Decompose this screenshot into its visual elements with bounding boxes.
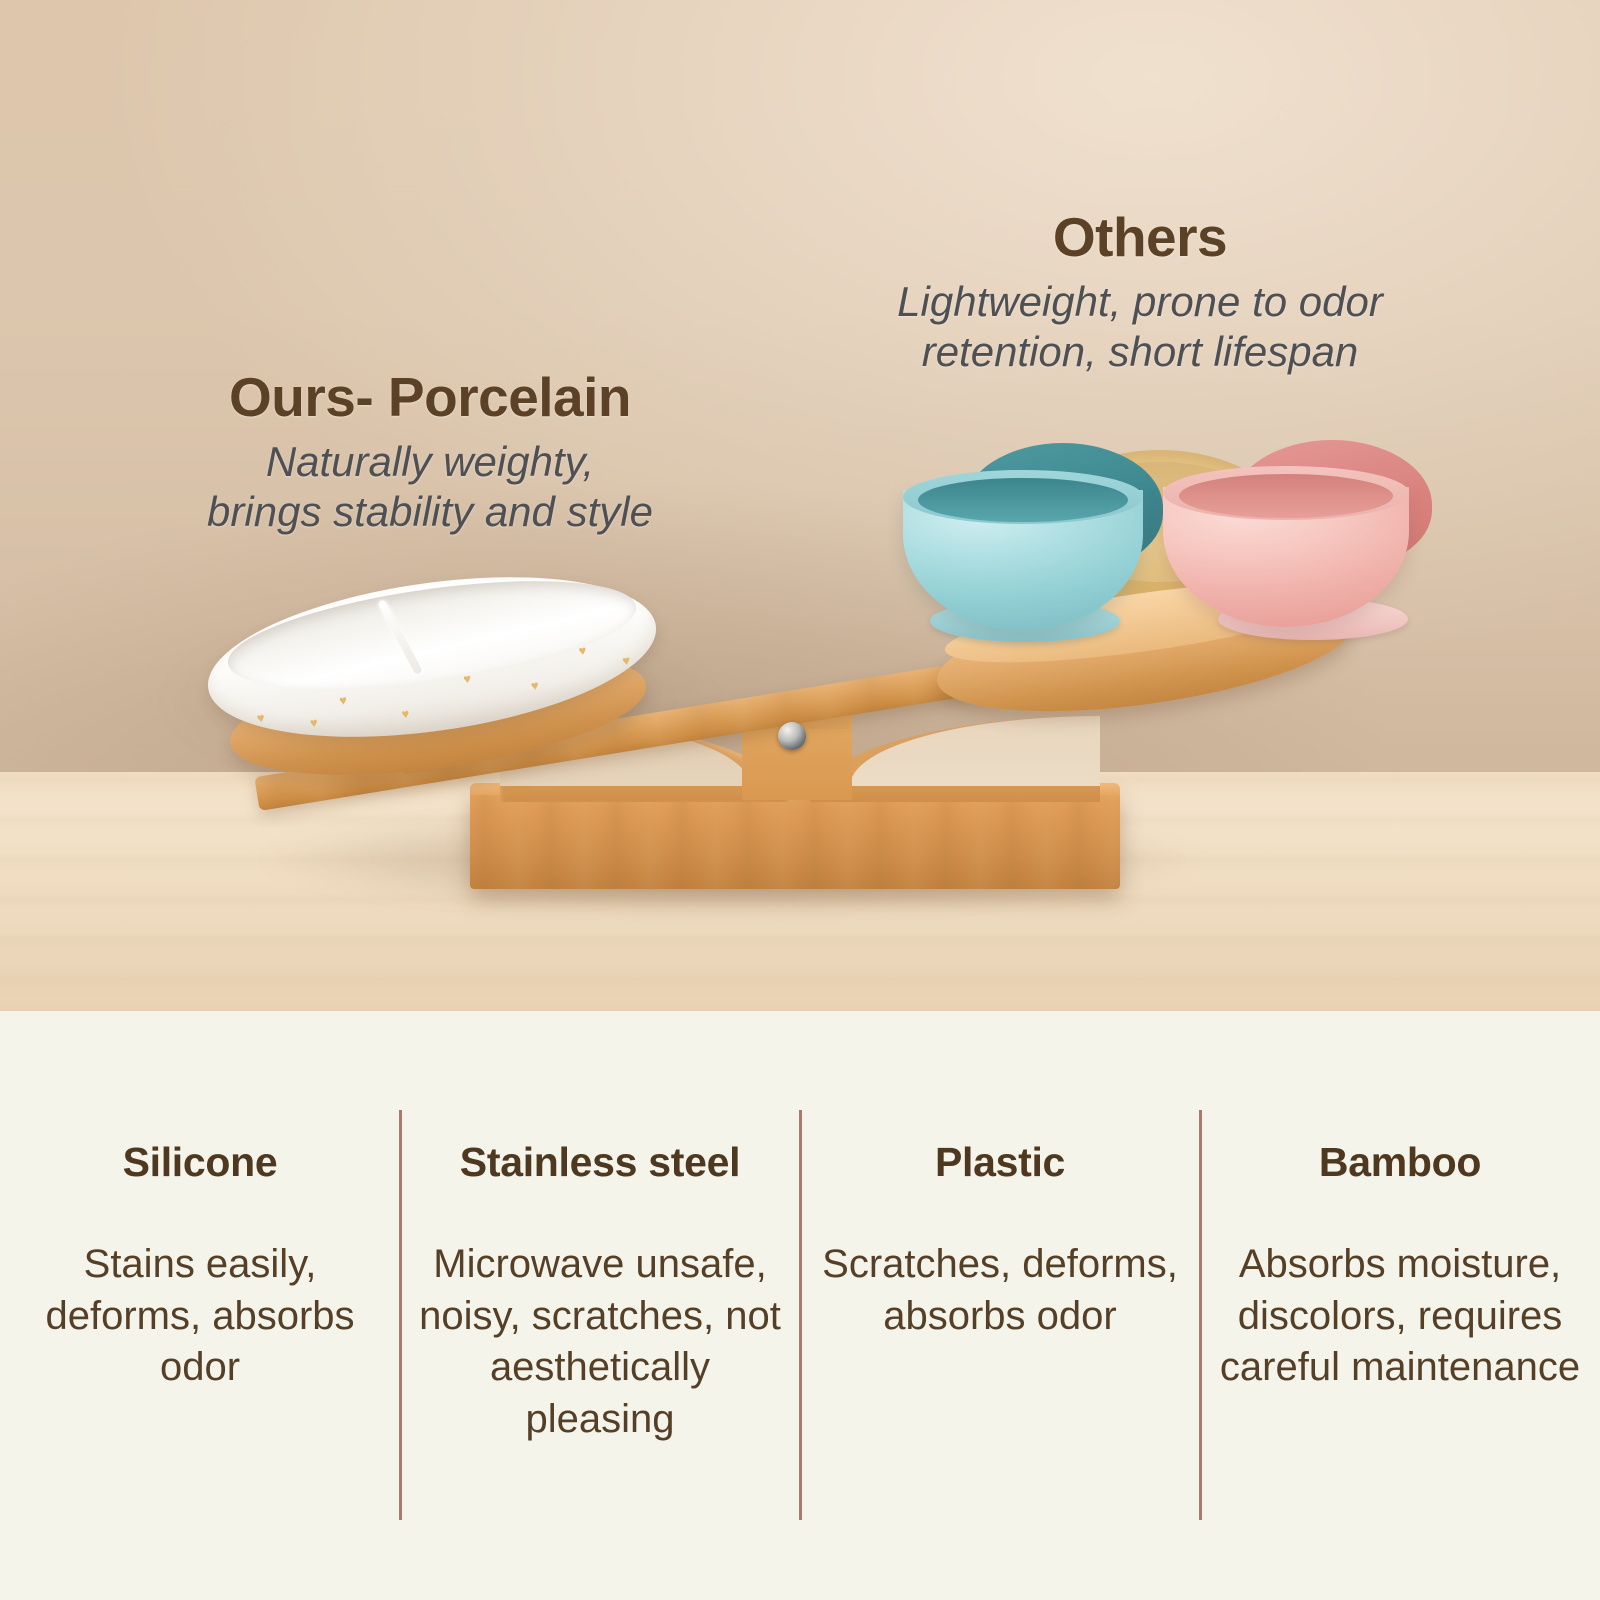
others-caption-block: Others Lightweight, prone to odor retent… [800,205,1480,376]
teal-bowl-interior [918,478,1128,522]
comparison-column-silicone: Silicone Stains easily, deforms, absorbs… [0,1011,400,1600]
infographic-canvas: ♥ ♥ ♥ ♥ ♥ ♥ ♥ ♥ Ours- Porcelain Naturall… [0,0,1600,1600]
column-body-stainless-steel: Microwave unsafe, noisy, scratches, not … [412,1239,788,1445]
comparison-column-plastic: Plastic Scratches, deforms, absorbs odor [800,1011,1200,1600]
heart-icon: ♥ [339,695,351,706]
column-body-plastic: Scratches, deforms, absorbs odor [812,1239,1188,1342]
heart-icon: ♥ [401,708,413,719]
column-heading-plastic: Plastic [800,1139,1200,1186]
column-body-silicone: Stains easily, deforms, absorbs odor [12,1239,388,1394]
ours-title: Ours- Porcelain [120,365,740,429]
balance-pivot-pin-icon [778,722,806,750]
hero-photo-scene: ♥ ♥ ♥ ♥ ♥ ♥ ♥ ♥ Ours- Porcelain Naturall… [0,0,1600,1011]
base-wood-grain [470,789,1120,889]
heart-icon: ♥ [309,717,321,728]
heart-icon: ♥ [256,712,268,723]
column-heading-silicone: Silicone [0,1139,400,1186]
comparison-column-stainless-steel: Stainless steel Microwave unsafe, noisy,… [400,1011,800,1600]
pink-bowl-interior [1179,474,1393,518]
others-subtitle-line2: retention, short lifespan [800,327,1480,377]
column-heading-stainless-steel: Stainless steel [400,1139,800,1186]
column-body-bamboo: Absorbs moisture, discolors, requires ca… [1212,1239,1588,1394]
ours-subtitle-line2: brings stability and style [120,487,740,537]
ours-subtitle-line1: Naturally weighty, [120,437,740,487]
ours-caption-block: Ours- Porcelain Naturally weighty, bring… [120,365,740,536]
balance-base-plinth [470,789,1120,889]
others-title: Others [800,205,1480,269]
column-heading-bamboo: Bamboo [1200,1139,1600,1186]
others-subtitle-line1: Lightweight, prone to odor [800,277,1480,327]
heart-icon: ♥ [622,655,634,666]
heart-icon: ♥ [578,645,590,656]
comparison-column-bamboo: Bamboo Absorbs moisture, discolors, requ… [1200,1011,1600,1600]
comparison-columns: Silicone Stains easily, deforms, absorbs… [0,1011,1600,1600]
heart-icon: ♥ [530,680,542,691]
comparison-panel: Silicone Stains easily, deforms, absorbs… [0,1011,1600,1600]
heart-icon: ♥ [463,673,475,684]
